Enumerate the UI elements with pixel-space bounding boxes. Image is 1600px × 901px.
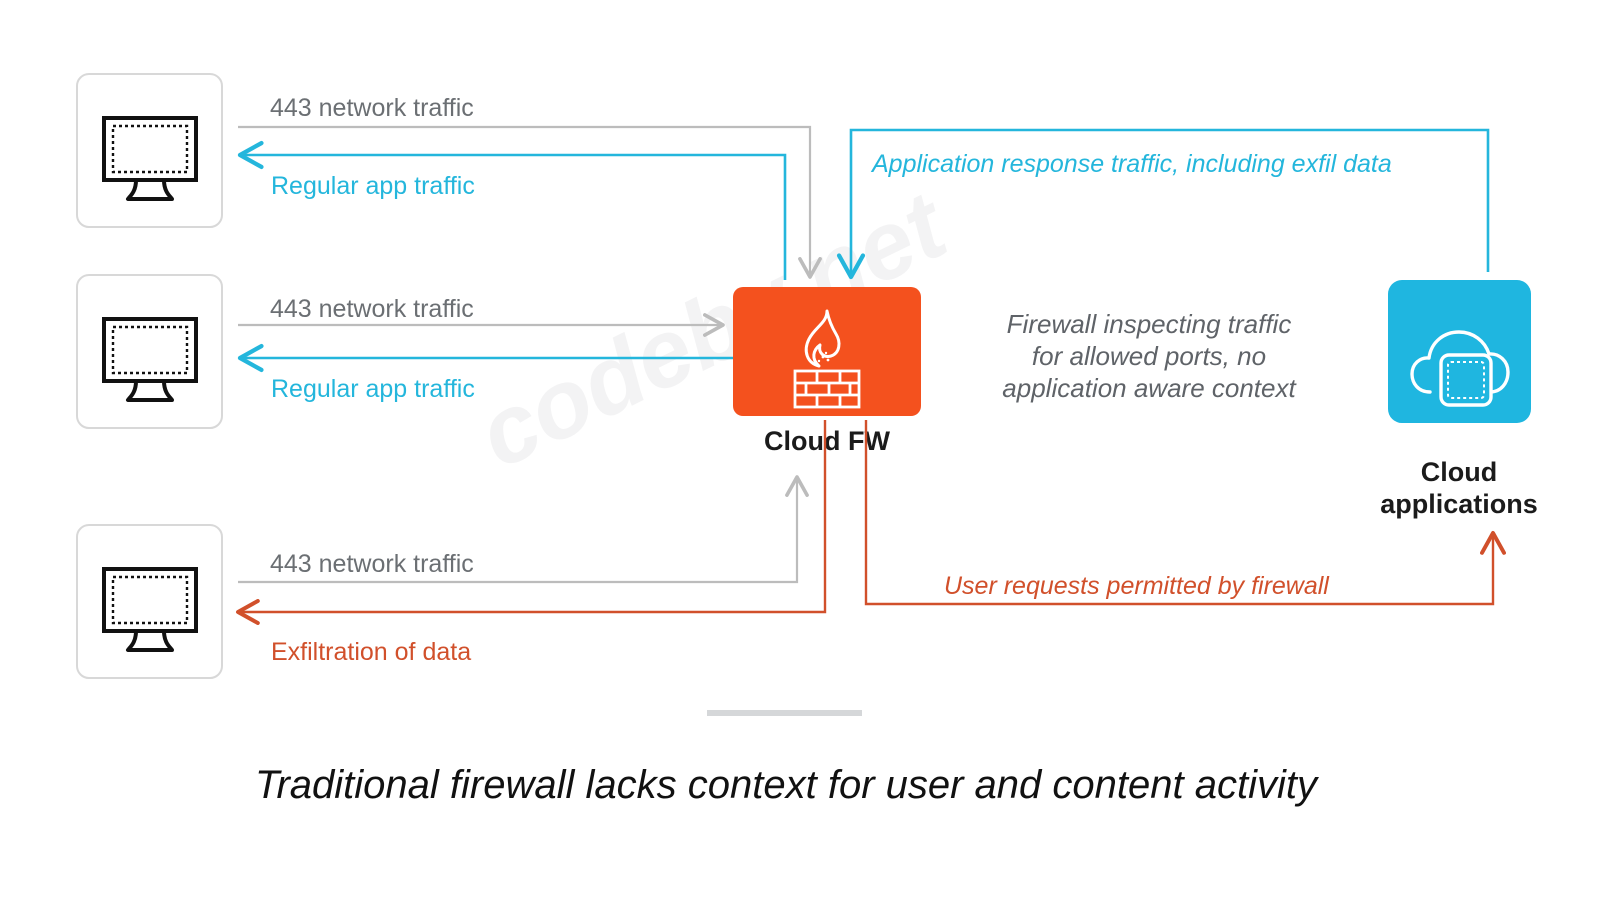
cloud-label-line-2: applications: [1380, 489, 1538, 519]
cloud-label-line-1: Cloud: [1421, 457, 1497, 487]
flow-443-row3-label: 443 network traffic: [270, 550, 474, 578]
flow-user-requests-label: User requests permitted by firewall: [944, 572, 1330, 600]
flow-app-response-label: Application response traffic, including …: [870, 150, 1392, 178]
page-title: Traditional firewall lacks context for u…: [255, 763, 1320, 807]
flow-443-row1-label: 443 network traffic: [270, 94, 474, 122]
endpoint-1[interactable]: [77, 74, 222, 227]
firewall-box[interactable]: [733, 287, 921, 416]
flow-app-row1-label: Regular app traffic: [271, 172, 475, 200]
diagram-canvas: codeby.net: [0, 0, 1600, 901]
firewall-node[interactable]: Cloud FW: [733, 287, 921, 456]
flow-443-row1-line: [238, 127, 810, 277]
endpoint-3[interactable]: [77, 525, 222, 678]
flow-exfil-label: Exfiltration of data: [271, 638, 471, 666]
firewall-note-line-1: Firewall inspecting traffic: [1007, 309, 1292, 339]
endpoint-2[interactable]: [77, 275, 222, 428]
cloud-node[interactable]: Cloud applications: [1380, 280, 1538, 519]
firewall-note-line-2: for allowed ports, no: [1032, 341, 1266, 371]
firewall-architecture-diagram: codeby.net: [0, 0, 1600, 901]
firewall-note: Firewall inspecting traffic for allowed …: [1002, 309, 1297, 403]
flow-443-row2-label: 443 network traffic: [270, 295, 474, 323]
firewall-note-line-3: application aware context: [1002, 373, 1297, 403]
firewall-label: Cloud FW: [764, 426, 890, 456]
flow-app-row2-label: Regular app traffic: [271, 375, 475, 403]
